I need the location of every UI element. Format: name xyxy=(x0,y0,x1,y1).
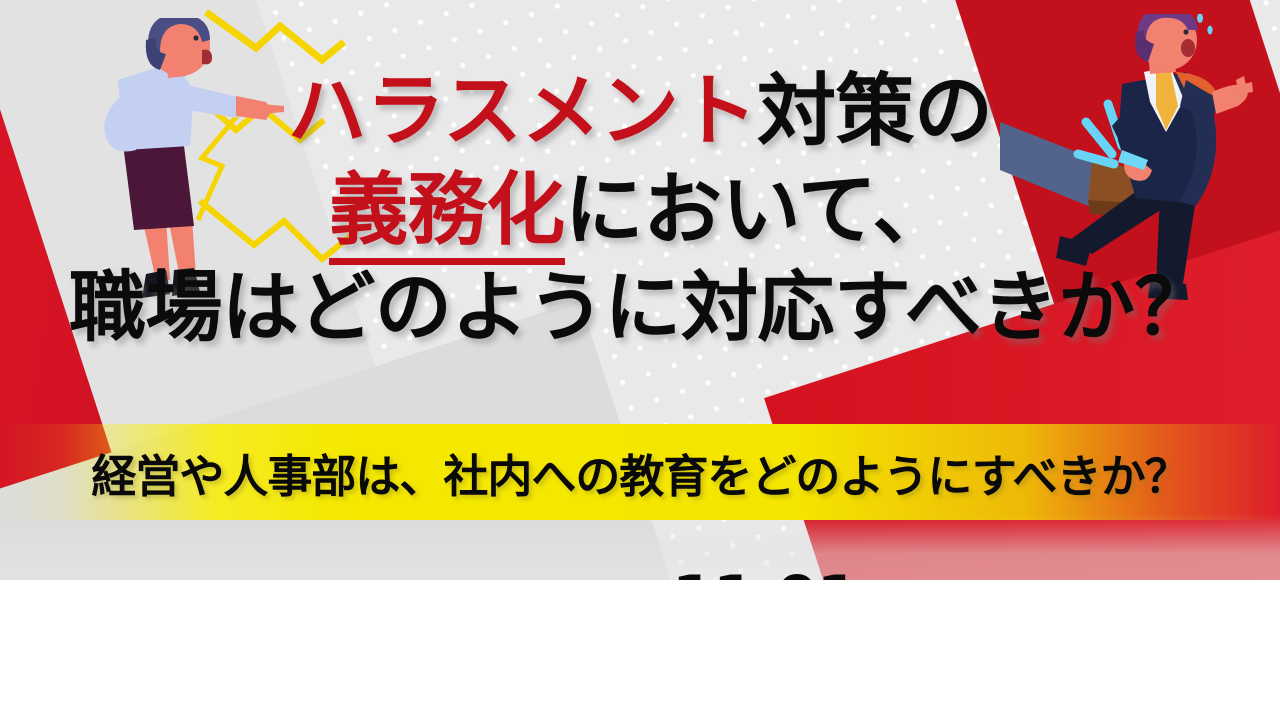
subtitle-text: 経営や人事部は、社内への教育をどのようにすべきか？ xyxy=(0,424,1280,520)
title-line-1-segment-1: ハラスメント xyxy=(288,65,757,157)
title-line-1-segment-2: 対策の xyxy=(757,65,993,157)
footer-bar xyxy=(0,580,1280,720)
hero-section: ハラスメント対策の 義務化において、 職場はどのように対応すべきか？ 経営や人事… xyxy=(0,0,1280,580)
title-line-2-segment-1-underlined: 義務化 xyxy=(329,164,565,265)
webinar-banner: ハラスメント対策の 義務化において、 職場はどのように対応すべきか？ 経営や人事… xyxy=(0,0,1280,720)
title-block: ハラスメント対策の 義務化において、 職場はどのように対応すべきか？ xyxy=(0,72,1280,347)
title-line-3-segment-1: 職場はどのように対応すべきか？ xyxy=(69,264,1211,353)
title-line-2-segment-2: において、 xyxy=(565,164,951,256)
title-line-1: ハラスメント対策の xyxy=(0,72,1280,151)
title-line-3: 職場はどのように対応すべきか？ xyxy=(0,270,1280,347)
title-line-2: 義務化において、 xyxy=(0,171,1280,250)
